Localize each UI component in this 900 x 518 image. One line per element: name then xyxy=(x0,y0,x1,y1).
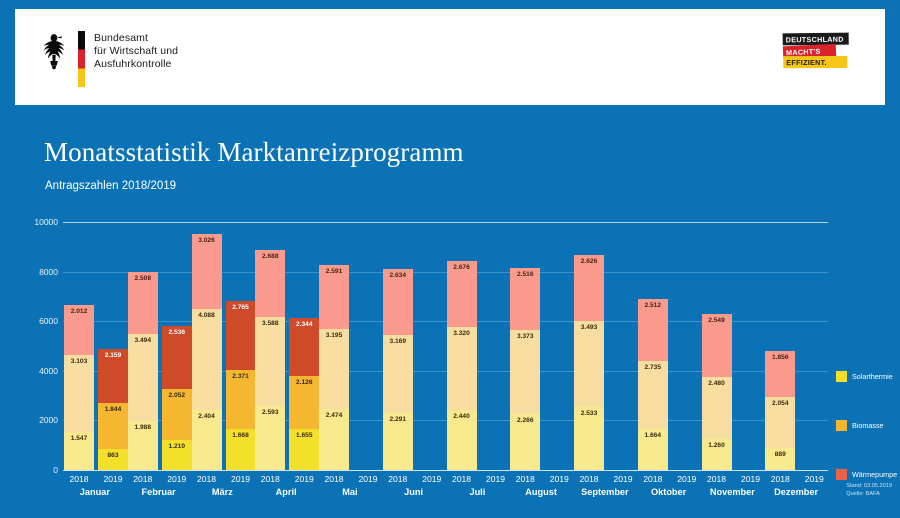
segment-bm: 2.052 xyxy=(162,389,192,440)
segment-value-label: 3.373 xyxy=(510,333,540,340)
legend-label: Wärmepumpe xyxy=(852,470,897,479)
bar-juli-2018[interactable]: 2.6763.3202.440 xyxy=(447,261,477,470)
y-tick-label-8000: 8000 xyxy=(39,267,58,277)
bar-group-februar: 2.5083.4941.9882.5362.0521.210 xyxy=(127,222,191,470)
segment-value-label: 2.054 xyxy=(765,400,795,407)
segment-value-label: 1.856 xyxy=(765,354,795,361)
segment-wp: 2.516 xyxy=(510,268,540,330)
segment-value-label: 2.126 xyxy=(289,379,319,386)
segment-st: 1.655 xyxy=(289,429,319,470)
segment-bm: 2.735 xyxy=(638,361,668,429)
segment-value-label: 1.664 xyxy=(638,432,668,439)
segment-value-label: 2.291 xyxy=(383,416,413,423)
segment-value-label: 3.169 xyxy=(383,338,413,345)
bar-group-juli: 2.6763.3202.440 xyxy=(446,222,510,470)
segment-value-label: 3.103 xyxy=(64,358,94,365)
segment-value-label: 1.210 xyxy=(162,443,192,450)
segment-wp: 2.159 xyxy=(98,349,128,403)
segment-st: 863 xyxy=(98,449,128,470)
bar-mai-2018[interactable]: 2.5913.1952.474 xyxy=(319,265,349,470)
data-source: Quelle: BAFA xyxy=(846,491,892,499)
segment-value-label: 3.026 xyxy=(192,237,222,244)
segment-st: 1.547 xyxy=(64,432,94,470)
segment-st: 1.988 xyxy=(128,421,158,470)
x-tick-dezember-2019: 2019 xyxy=(794,474,834,484)
bar-group-august: 2.5163.3732.266 xyxy=(509,222,573,470)
legend-item-solarthermie[interactable]: Solarthermie xyxy=(836,371,897,382)
segment-wp: 2.626 xyxy=(574,255,604,320)
stand-date: Stand: 03.05.2019 xyxy=(846,483,892,491)
segment-st: 1.210 xyxy=(162,440,192,470)
segment-st: 2.440 xyxy=(447,410,477,471)
segment-st: 2.291 xyxy=(383,413,413,470)
segment-value-label: 3.195 xyxy=(319,332,349,339)
segment-value-label: 2.765 xyxy=(226,304,256,311)
bar-april-2019[interactable]: 2.3442.1261.655 xyxy=(289,318,319,470)
segment-bm: 2.371 xyxy=(226,370,256,429)
y-tick-label-0: 0 xyxy=(53,465,58,475)
segment-value-label: 3.494 xyxy=(128,337,158,344)
legend-label: Solarthermie xyxy=(852,372,893,381)
segment-value-label: 1.655 xyxy=(289,432,319,439)
bar-group-januar: 2.0123.1031.5472.1591.844863 xyxy=(63,222,127,470)
segment-value-label: 2.440 xyxy=(447,413,477,420)
segment-value-label: 2.012 xyxy=(64,308,94,315)
segment-st: 2.404 xyxy=(192,410,222,470)
segment-bm: 2.126 xyxy=(289,376,319,429)
segment-value-label: 889 xyxy=(765,451,795,458)
y-tick-label-10000: 10000 xyxy=(34,217,58,227)
bar-märz-2018[interactable]: 3.0264.0882.404 xyxy=(192,234,222,470)
segment-value-label: 2.052 xyxy=(162,392,192,399)
segment-value-label: 2.533 xyxy=(574,410,604,417)
segment-value-label: 2.676 xyxy=(447,264,477,271)
segment-value-label: 3.588 xyxy=(255,320,285,327)
y-axis-labels: 0200040006000800010000 xyxy=(16,222,58,470)
segment-bm: 3.169 xyxy=(383,335,413,414)
segment-wp: 2.012 xyxy=(64,305,94,355)
segment-value-label: 2.266 xyxy=(510,417,540,424)
bar-februar-2019[interactable]: 2.5362.0521.210 xyxy=(162,326,192,470)
segment-bm: 2.054 xyxy=(765,397,795,448)
legend-swatch-icon xyxy=(836,420,847,431)
bar-group-dezember: 1.8562.054889 xyxy=(764,222,828,470)
segment-value-label: 2.512 xyxy=(638,302,668,309)
x-axis-labels: 20182019Januar20182019Februar20182019Mär… xyxy=(63,472,828,504)
segment-wp: 2.676 xyxy=(447,261,477,327)
segment-bm: 3.320 xyxy=(447,327,477,409)
segment-wp: 2.591 xyxy=(319,265,349,329)
segment-value-label: 3.320 xyxy=(447,330,477,337)
segment-wp: 2.344 xyxy=(289,318,319,376)
segment-wp: 2.765 xyxy=(226,301,256,370)
segment-value-label: 2.344 xyxy=(289,321,319,328)
segment-value-label: 1.668 xyxy=(226,432,256,439)
bar-september-2018[interactable]: 2.6263.4932.533 xyxy=(574,255,604,470)
segment-st: 2.593 xyxy=(255,406,285,470)
bar-märz-2019[interactable]: 2.7652.3711.668 xyxy=(226,301,256,470)
segment-value-label: 2.549 xyxy=(702,317,732,324)
bar-group-oktober: 2.5122.7351.664 xyxy=(637,222,701,470)
segment-value-label: 1.260 xyxy=(702,442,732,449)
y-tick-label-2000: 2000 xyxy=(39,415,58,425)
segment-value-label: 2.591 xyxy=(319,268,349,275)
bar-februar-2018[interactable]: 2.5083.4941.988 xyxy=(128,272,158,470)
segment-st: 889 xyxy=(765,448,795,470)
legend-swatch-icon xyxy=(836,469,847,480)
segment-value-label: 2.735 xyxy=(638,364,668,371)
x-axis-month-dezember: Dezember xyxy=(751,487,841,497)
segment-value-label: 2.508 xyxy=(128,275,158,282)
legend-item-biomasse[interactable]: Biomasse xyxy=(836,420,897,431)
segment-wp: 2.634 xyxy=(383,269,413,334)
bar-group-märz: 3.0264.0882.4042.7652.3711.668 xyxy=(191,222,255,470)
chart-area: 0200040006000800010000 2.0123.1031.5472.… xyxy=(0,0,900,506)
segment-value-label: 4.088 xyxy=(192,312,222,319)
y-tick-label-4000: 4000 xyxy=(39,366,58,376)
segment-wp: 2.688 xyxy=(255,250,285,317)
source-note: Stand: 03.05.2019 Quelle: BAFA xyxy=(846,483,892,498)
segment-value-label: 2.480 xyxy=(702,380,732,387)
segment-value-label: 2.593 xyxy=(255,409,285,416)
bar-group-mai: 2.5913.1952.474 xyxy=(318,222,382,470)
segment-bm: 2.480 xyxy=(702,377,732,439)
segment-bm: 3.493 xyxy=(574,321,604,408)
segment-st: 2.533 xyxy=(574,407,604,470)
legend-label: Biomasse xyxy=(852,421,884,430)
legend-swatch-icon xyxy=(836,371,847,382)
segment-value-label: 2.634 xyxy=(383,272,413,279)
segment-value-label: 2.404 xyxy=(192,413,222,420)
segment-bm: 4.088 xyxy=(192,309,222,410)
segment-wp: 2.508 xyxy=(128,272,158,334)
segment-bm: 3.588 xyxy=(255,317,285,406)
bar-group-september: 2.6263.4932.533 xyxy=(573,222,637,470)
bar-group-juni: 2.6343.1692.291 xyxy=(382,222,446,470)
bar-april-2018[interactable]: 2.6883.5882.593 xyxy=(255,250,285,470)
segment-value-label: 863 xyxy=(98,452,128,459)
segment-value-label: 2.159 xyxy=(98,352,128,359)
segment-value-label: 2.626 xyxy=(574,258,604,265)
bar-januar-2018[interactable]: 2.0123.1031.547 xyxy=(64,305,94,470)
segment-st: 1.664 xyxy=(638,429,668,470)
plot-area: 2.0123.1031.5472.1591.8448632.5083.4941.… xyxy=(63,222,828,470)
segment-value-label: 3.493 xyxy=(574,324,604,331)
bar-juni-2018[interactable]: 2.6343.1692.291 xyxy=(383,269,413,470)
segment-bm: 3.494 xyxy=(128,334,158,421)
segment-value-label: 1.988 xyxy=(128,424,158,431)
segment-st: 1.668 xyxy=(226,429,256,470)
bar-august-2018[interactable]: 2.5163.3732.266 xyxy=(510,268,540,470)
bar-januar-2019[interactable]: 2.1591.844863 xyxy=(98,349,128,470)
segment-value-label: 2.371 xyxy=(226,373,256,380)
legend-item-wärmepumpe[interactable]: Wärmepumpe xyxy=(836,469,897,480)
bar-series: 2.0123.1031.5472.1591.8448632.5083.4941.… xyxy=(63,222,828,470)
segment-st: 1.260 xyxy=(702,439,732,470)
gridline-0 xyxy=(63,470,828,471)
segment-bm: 1.844 xyxy=(98,403,128,449)
segment-wp: 3.026 xyxy=(192,234,222,309)
segment-value-label: 1.844 xyxy=(98,406,128,413)
segment-st: 2.266 xyxy=(510,414,540,470)
segment-wp: 2.536 xyxy=(162,326,192,389)
segment-wp: 2.549 xyxy=(702,314,732,377)
segment-value-label: 2.516 xyxy=(510,271,540,278)
segment-value-label: 2.688 xyxy=(255,253,285,260)
bar-dezember-2018[interactable]: 1.8562.054889 xyxy=(765,351,795,470)
y-tick-label-6000: 6000 xyxy=(39,316,58,326)
segment-value-label: 1.547 xyxy=(64,435,94,442)
segment-st: 2.474 xyxy=(319,409,349,470)
bar-oktober-2018[interactable]: 2.5122.7351.664 xyxy=(638,299,668,470)
bar-group-april: 2.6883.5882.5932.3442.1261.655 xyxy=(254,222,318,470)
segment-bm: 3.373 xyxy=(510,330,540,414)
segment-wp: 2.512 xyxy=(638,299,668,361)
segment-value-label: 2.474 xyxy=(319,412,349,419)
bar-november-2018[interactable]: 2.5492.4801.260 xyxy=(702,314,732,470)
segment-wp: 1.856 xyxy=(765,351,795,397)
segment-value-label: 2.536 xyxy=(162,329,192,336)
segment-bm: 3.103 xyxy=(64,355,94,432)
segment-bm: 3.195 xyxy=(319,329,349,408)
bar-group-november: 2.5492.4801.260 xyxy=(701,222,765,470)
